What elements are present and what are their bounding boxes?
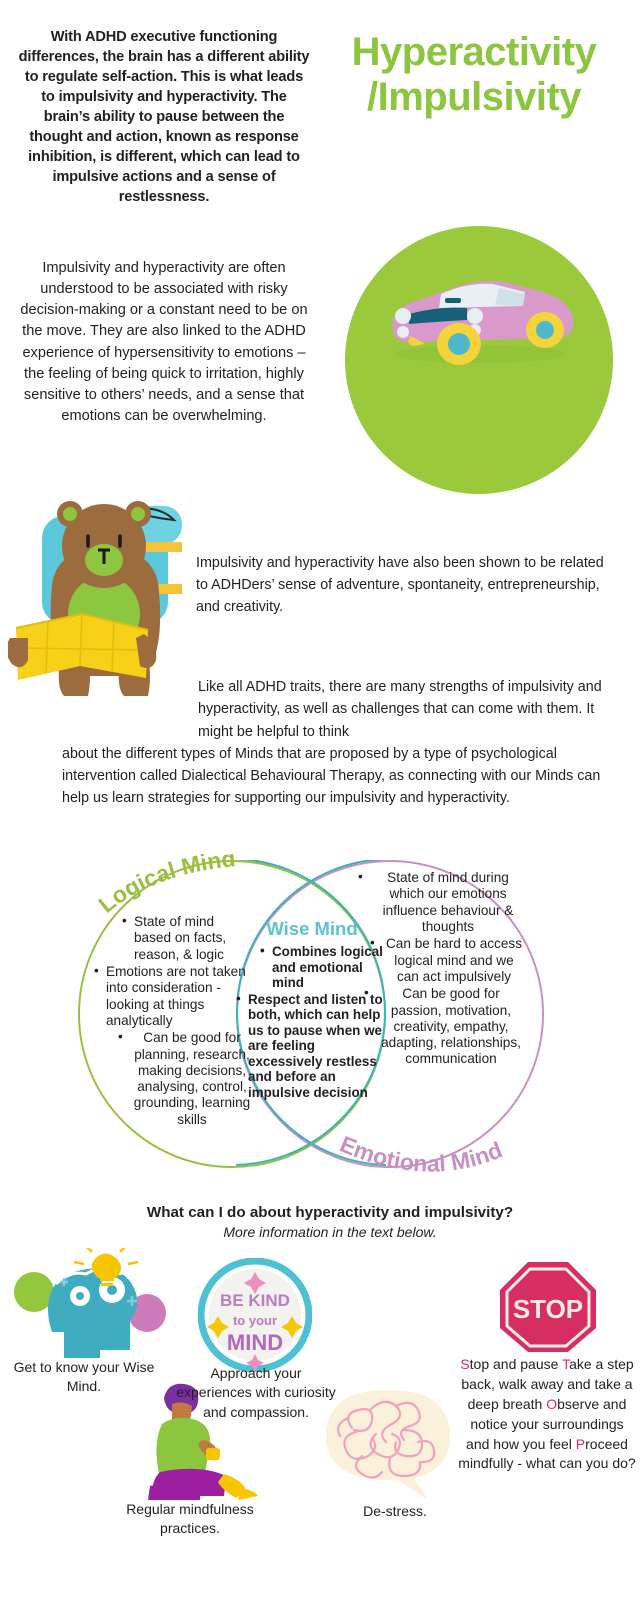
badge-line2: to your [233, 1313, 277, 1328]
venn-label-wise: Wise Mind [248, 918, 376, 940]
stop-initial-p: P [576, 1436, 585, 1452]
hiking-bear-icon [8, 488, 204, 700]
list-item: State of mind based on facts, reason, & … [122, 914, 254, 963]
stop-sign-icon: STOP [496, 1258, 600, 1356]
stop-initial-t: T [562, 1356, 569, 1372]
cta-title: What can I do about hyperactivity and im… [100, 1204, 560, 1221]
caption-get-to-know-wise-mind: Get to know your Wise Mind. [8, 1358, 160, 1397]
stop-rest-s: top and pause [470, 1356, 559, 1372]
svg-text:Emotional Mind: Emotional Mind [336, 1131, 506, 1177]
page-title-line2: /Impulsivity [367, 75, 581, 119]
list-item: Can be good for passion, motivation, cre… [364, 986, 526, 1068]
svg-text:Logical Mind: Logical Mind [96, 854, 237, 918]
list-item: Can be good for planning, research, maki… [118, 1030, 254, 1128]
badge-line3: MIND [227, 1330, 283, 1355]
page-title: Hyperactivity /Impulsivity [318, 30, 630, 120]
body-paragraph-minds-indent: Like all ADHD traits, there are many str… [62, 676, 618, 743]
body-paragraph-two: Impulsivity and hyperactivity are often … [18, 258, 310, 427]
list-item: Emotions are not taken into consideratio… [94, 964, 254, 1029]
page-title-line1: Hyperactivity [352, 30, 597, 74]
stop-initial-o: O [546, 1396, 557, 1412]
head-lightbulb-icon [28, 1248, 168, 1360]
scribble-thought-icon [318, 1384, 476, 1502]
venn-label-emotional-text: Emotional Mind [336, 1131, 506, 1177]
venn-label-emotional: Emotional Mind [330, 1126, 560, 1196]
venn-bullets-logical: State of mind based on facts, reason, & … [104, 914, 254, 1129]
body-paragraph-minds: Like all ADHD traits, there are many str… [62, 676, 618, 810]
list-item: Can be hard to access logical mind and w… [370, 936, 526, 985]
be-kind-badge-icon: BE KIND to your MIND [198, 1258, 312, 1372]
intro-paragraph: With ADHD executive functioning differen… [18, 28, 310, 208]
venn-label-logical-text: Logical Mind [96, 854, 237, 918]
caption-regular-mindfulness: Regular mindfulness practices. [110, 1500, 270, 1539]
list-item: State of mind during which our emotions … [358, 870, 526, 935]
stop-sign-label: STOP [513, 1294, 583, 1324]
caption-de-stress: De-stress. [330, 1502, 460, 1521]
sports-car-icon [375, 258, 585, 368]
stop-initial-s: S [460, 1356, 469, 1372]
stop-acronym-text: Stop and pause Take a step back, walk aw… [458, 1355, 636, 1474]
stop-line-s: Stop and pause [460, 1356, 558, 1372]
venn-bullets-emotional: State of mind during which our emotions … [358, 870, 526, 1069]
caption-approach-with-curiosity: Approach your experiences with curiosity… [176, 1364, 336, 1422]
body-paragraph-minds-rest: about the different types of Minds that … [62, 746, 600, 807]
body-paragraph-bear: Impulsivity and hyperactivity have also … [196, 552, 616, 618]
venn-diagram: Logical Mind Emotional Mind State of min… [0, 846, 640, 1206]
cta-subtitle: More information in the text below. [100, 1224, 560, 1240]
hallowell-quote-circle: Dr. Ned Hallowell, a psychiatrist and sp… [345, 226, 613, 494]
